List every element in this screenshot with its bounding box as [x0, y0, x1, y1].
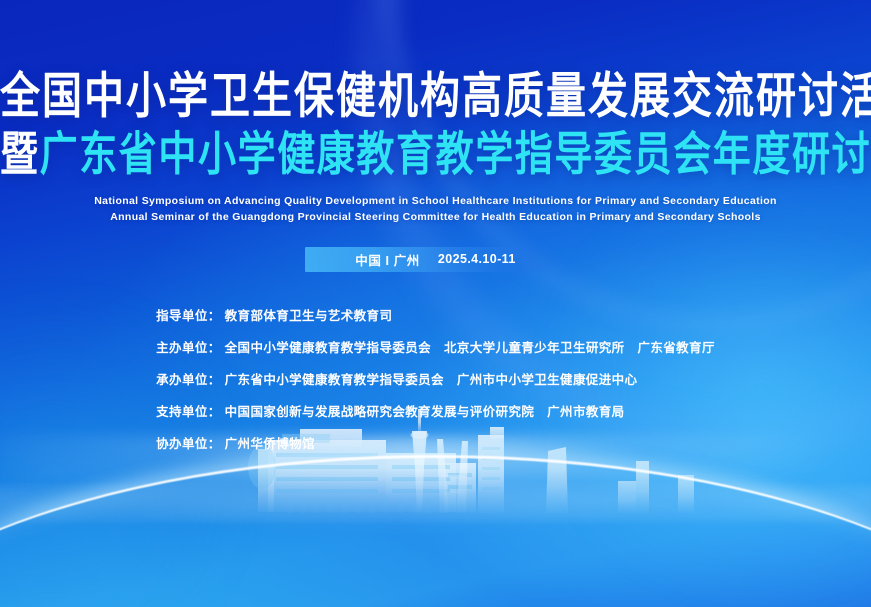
event-badge: 中国 I 广州 2025.4.10-11 — [305, 247, 567, 272]
organizer-value: 广东省中小学健康教育教学指导委员会 广州市中小学卫生健康促进中心 — [225, 369, 638, 388]
poster-content: 全国中小学卫生保健机构高质量发展交流研讨活动 暨广东省中小学健康教育教学指导委员… — [0, 0, 871, 453]
students-group — [287, 497, 445, 513]
organizer-row: 支持单位： 中国国家创新与发展战略研究会教育发展与评价研究院 广州市教育局 — [156, 401, 715, 420]
event-badge-row: 中国 I 广州 2025.4.10-11 — [0, 247, 871, 272]
event-date: 2025.4.10-11 — [438, 252, 516, 266]
organizer-value: 中国国家创新与发展战略研究会教育发展与评价研究院 广州市教育局 — [225, 401, 625, 420]
horizon-arc-glow — [0, 451, 871, 607]
organizer-row: 协办单位： 广州华侨博物馆 — [156, 433, 715, 452]
poster-title-line2-rest: 广东省中小学健康教育教学指导委员会年度研讨活动 — [40, 127, 871, 181]
ground-mist — [0, 481, 871, 525]
organizer-label: 主办单位： — [156, 337, 221, 356]
subtitle-en-line1: National Symposium on Advancing Quality … — [0, 193, 871, 209]
organizer-label: 协办单位： — [156, 433, 221, 452]
organizer-row: 主办单位： 全国中小学健康教育教学指导委员会 北京大学儿童青少年卫生研究所 广东… — [156, 337, 715, 356]
poster-subtitle-english: National Symposium on Advancing Quality … — [0, 193, 871, 226]
office-towers-right — [546, 447, 694, 513]
organizer-value: 教育部体育卫生与艺术教育司 — [225, 305, 393, 324]
organizer-list: 指导单位： 教育部体育卫生与艺术教育司 主办单位： 全国中小学健康教育教学指导委… — [156, 305, 715, 452]
poster-title-line2: 暨广东省中小学健康教育教学指导委员会年度研讨活动 — [0, 131, 871, 177]
organizer-label: 支持单位： — [156, 401, 221, 420]
subtitle-en-line2: Annual Seminar of the Guangdong Provinci… — [0, 209, 871, 225]
event-location: 中国 I 广州 — [355, 250, 420, 269]
poster-title-line1: 全国中小学卫生保健机构高质量发展交流研讨活动 — [0, 72, 871, 121]
horizon-haze — [0, 435, 871, 555]
organizer-value: 全国中小学健康教育教学指导委员会 北京大学儿童青少年卫生研究所 广东省教育厅 — [225, 337, 715, 356]
organizer-label: 指导单位： — [156, 305, 221, 324]
organizer-row: 指导单位： 教育部体育卫生与艺术教育司 — [156, 305, 715, 324]
horizon-arc-line — [0, 455, 871, 607]
poster-title-line2-lead: 暨 — [0, 127, 40, 181]
organizer-value: 广州华侨博物馆 — [225, 433, 315, 452]
conference-poster: 全国中小学卫生保健机构高质量发展交流研讨活动 暨广东省中小学健康教育教学指导委员… — [0, 0, 871, 607]
organizer-row: 承办单位： 广东省中小学健康教育教学指导委员会 广州市中小学卫生健康促进中心 — [156, 369, 715, 388]
organizer-label: 承办单位： — [156, 369, 221, 388]
